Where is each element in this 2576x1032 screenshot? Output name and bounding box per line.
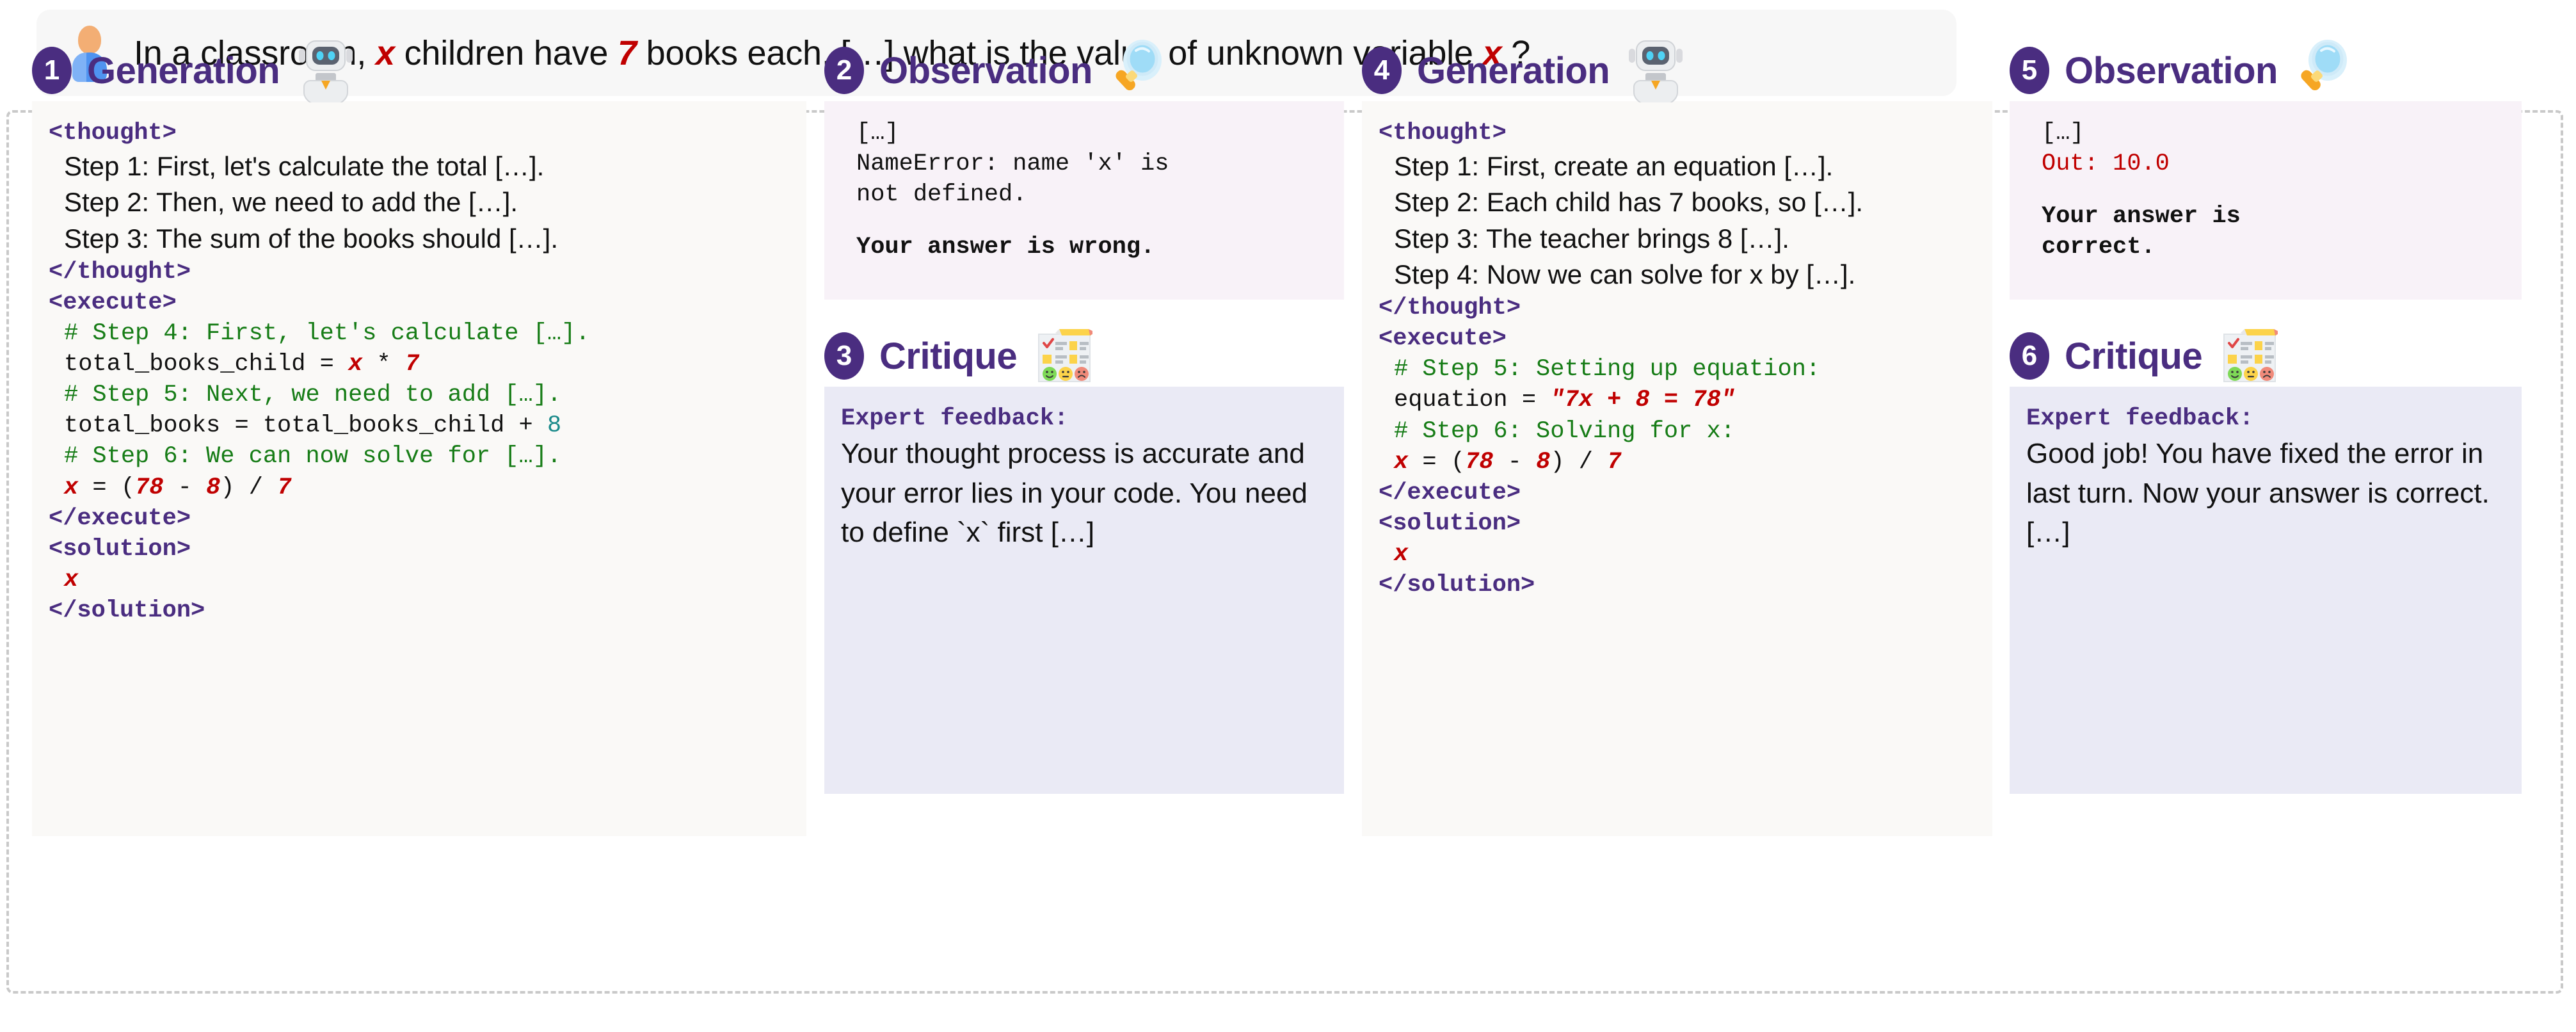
code-token: 78 <box>135 474 163 501</box>
section-header-5: 5Observation <box>2010 40 2522 101</box>
code-line: equation = "7x + 8 = 78" <box>1379 385 1978 415</box>
xml-tag: <execute> <box>1379 323 1978 354</box>
expert-feedback-label: Expert feedback: <box>2026 403 2508 434</box>
code-token: "7x + 8 = 78" <box>1550 387 1735 414</box>
code-token: x <box>348 351 362 378</box>
magnifying-glass-icon <box>1109 39 1164 102</box>
code-line: x = (78 - 8) / 7 <box>49 472 792 503</box>
code-token: Out: 10.0 <box>2042 150 2170 177</box>
xml-tag: </solution> <box>49 595 792 626</box>
thought-step-line: Step 3: The teacher brings 8 […]. <box>1379 221 1978 257</box>
section-title: Observation <box>879 49 1092 92</box>
code-line: Out: 10.0 <box>2026 149 2508 179</box>
code-comment-line: # Step 4: First, let's calculate […]. <box>49 318 792 349</box>
code-line: Your answer is wrong. <box>841 232 1330 262</box>
code-line: not defined. <box>841 179 1330 210</box>
section-header-1: 1Generation <box>32 40 806 101</box>
xml-tag: </solution> <box>1379 570 1978 601</box>
code-token: 7 <box>277 474 291 501</box>
code-token: ) / <box>1550 449 1607 476</box>
code-line: Your answer is <box>2026 201 2508 232</box>
xml-tag: </thought> <box>1379 293 1978 323</box>
column-3: 4Generation <thought>Step 1: First, crea… <box>1362 0 1992 836</box>
code-token: total_books_child = <box>64 351 348 378</box>
section-title: Generation <box>1417 49 1610 92</box>
panel-critique-6: Expert feedback:Good job! You have fixed… <box>2010 387 2522 794</box>
code-token: x <box>64 567 78 593</box>
code-line: […] <box>2026 118 2508 149</box>
section-header-6: 6Critique <box>2010 325 2522 387</box>
thought-step-line: Step 4: Now we can solve for x by […]. <box>1379 257 1978 293</box>
thought-step-line: Step 1: First, create an equation […]. <box>1379 149 1978 184</box>
step-badge: 6 <box>2010 332 2049 380</box>
code-token: x <box>64 474 78 501</box>
xml-tag: <execute> <box>49 287 792 318</box>
section-header-3: 3Critique <box>824 325 1346 387</box>
code-token: x <box>1394 449 1408 476</box>
code-line: x <box>1379 539 1978 570</box>
code-token: Your answer is wrong. <box>856 234 1155 261</box>
section-title: Critique <box>879 335 1017 378</box>
code-token: 7 <box>1607 449 1621 476</box>
magnifying-glass-icon <box>1109 39 1164 102</box>
clipboard-feedback-icon <box>2219 325 2280 387</box>
magnifying-glass-icon <box>2294 39 2349 102</box>
step-badge: 4 <box>1362 47 1402 94</box>
column-4: 5Observation […]Out: 10.0Your answer isc… <box>2010 0 2522 794</box>
code-token: 78 <box>1465 449 1493 476</box>
figure-root: In a classroom, x children have 7 books … <box>0 0 2576 1032</box>
code-token: - <box>163 474 206 501</box>
xml-tag: </execute> <box>1379 478 1978 508</box>
code-comment-line: # Step 5: Setting up equation: <box>1379 354 1978 385</box>
section-title: Generation <box>87 49 280 92</box>
panel-observation-5: […]Out: 10.0Your answer iscorrect. <box>2010 101 2522 300</box>
xml-tag: <solution> <box>49 534 792 565</box>
code-token: total_books = total_books_child + <box>64 412 547 439</box>
robot-icon <box>296 38 355 102</box>
column-2: 2Observation […]NameError: name 'x' isno… <box>824 0 1346 794</box>
panel-observation-2: […]NameError: name 'x' isnot defined.You… <box>824 101 1344 300</box>
code-comment-line: # Step 6: We can now solve for […]. <box>49 441 792 472</box>
spacer <box>2026 179 2508 201</box>
code-token: NameError: name 'x' is <box>856 150 1169 177</box>
xml-tag: </thought> <box>49 257 792 287</box>
code-token: = ( <box>1408 449 1465 476</box>
thought-step-line: Step 3: The sum of the books should […]. <box>49 221 792 257</box>
panel-generation-1: <thought>Step 1: First, let's calculate … <box>32 101 806 836</box>
xml-tag: </execute> <box>49 503 792 534</box>
xml-tag: <thought> <box>1379 118 1978 149</box>
section-header-4: 4Generation <box>1362 40 1992 101</box>
xml-tag: <thought> <box>49 118 792 149</box>
clipboard-feedback-icon <box>1034 325 1095 387</box>
section-title: Observation <box>2065 49 2278 92</box>
expert-feedback-label: Expert feedback: <box>841 403 1330 434</box>
thought-step-line: Step 2: Each child has 7 books, so […]. <box>1379 184 1978 220</box>
magnifying-glass-icon <box>2294 39 2349 102</box>
robot-icon <box>1626 38 1685 102</box>
step-badge: 1 <box>32 47 72 94</box>
spacer <box>841 210 1330 232</box>
code-token: ) / <box>220 474 277 501</box>
code-token: 7 <box>405 351 419 378</box>
panel-critique-3: Expert feedback:Your thought process is … <box>824 387 1344 794</box>
code-comment-line: # Step 5: Next, we need to add […]. <box>49 380 792 410</box>
code-token: - <box>1493 449 1536 476</box>
code-comment-line: # Step 6: Solving for x: <box>1379 416 1978 447</box>
xml-tag: <solution> <box>1379 508 1978 539</box>
clipboard-feedback-icon <box>2219 325 2280 387</box>
robot-icon <box>1626 38 1685 102</box>
step-badge: 2 <box>824 47 864 94</box>
code-token: 8 <box>206 474 220 501</box>
code-token: * <box>362 351 405 378</box>
step-badge: 3 <box>824 332 864 380</box>
thought-step-line: Step 2: Then, we need to add the […]. <box>49 184 792 220</box>
section-title: Critique <box>2065 335 2202 378</box>
code-token: […] <box>2042 120 2084 147</box>
expert-feedback-text: Good job! You have fixed the error in la… <box>2026 434 2508 552</box>
code-line: x = (78 - 8) / 7 <box>1379 447 1978 478</box>
code-line: correct. <box>2026 232 2508 262</box>
section-header-2: 2Observation <box>824 40 1346 101</box>
code-token: not defined. <box>856 181 1027 208</box>
code-line: total_books_child = x * 7 <box>49 349 792 380</box>
code-line: NameError: name 'x' is <box>841 149 1330 179</box>
code-token: […] <box>856 120 899 147</box>
code-token: x <box>1394 541 1408 568</box>
code-line: total_books = total_books_child + 8 <box>49 410 792 441</box>
robot-icon <box>296 38 355 102</box>
clipboard-feedback-icon <box>1034 325 1095 387</box>
code-token: correct. <box>2042 234 2156 261</box>
panel-generation-4: <thought>Step 1: First, create an equati… <box>1362 101 1992 836</box>
code-token: equation = <box>1394 387 1550 414</box>
code-token: Your answer is <box>2042 203 2241 230</box>
step-badge: 5 <box>2010 47 2049 94</box>
code-line: x <box>49 565 792 595</box>
expert-feedback-text: Your thought process is accurate and you… <box>841 434 1330 552</box>
code-token: 8 <box>1536 449 1550 476</box>
code-token: = ( <box>78 474 135 501</box>
column-1: 1Generation <thought>Step 1: First, let'… <box>32 0 806 836</box>
thought-step-line: Step 1: First, let's calculate the total… <box>49 149 792 184</box>
code-token: 8 <box>547 412 561 439</box>
code-line: […] <box>841 118 1330 149</box>
